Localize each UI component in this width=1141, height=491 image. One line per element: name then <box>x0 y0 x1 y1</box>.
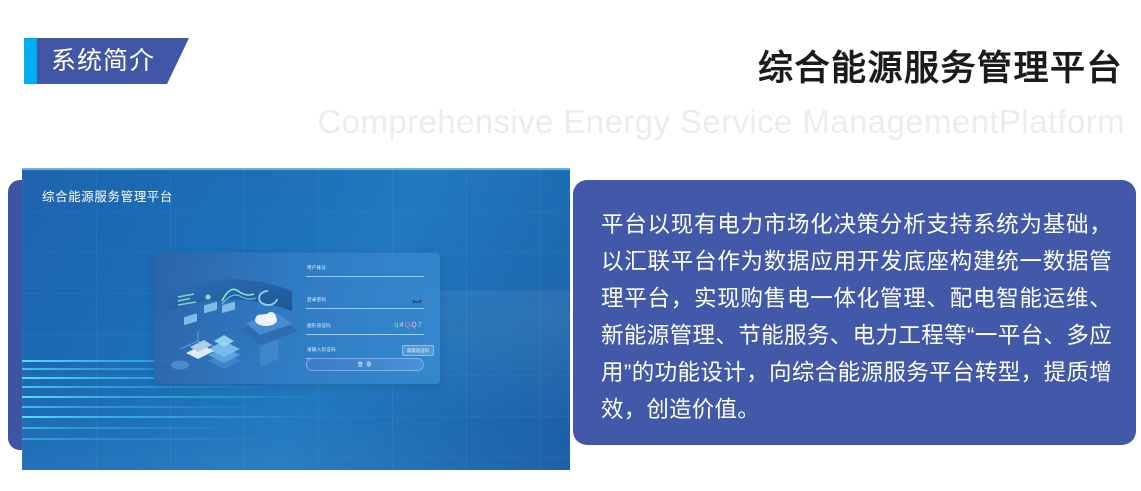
login-form: 用户账号 登录密码 图形验证码 q4QQ7 <box>306 263 432 377</box>
page-title: 综合能源服务管理平台 <box>758 40 1123 91</box>
section-badge-label: 系统简介 <box>51 49 155 74</box>
platform-screenshot: 综合能源服务管理平台 <box>22 168 570 470</box>
login-card: 用户账号 登录密码 图形验证码 q4QQ7 <box>154 253 440 384</box>
badge-accent-bar <box>24 38 37 84</box>
slide-canvas: 系统简介 综合能源服务管理平台 Comprehensive Energy Ser… <box>0 0 1141 491</box>
login-submit-button[interactable]: 登 录 <box>306 358 424 371</box>
description-panel: 平台以现有电力市场化决策分析支持系统为基础，以汇联平台作为数据应用开发底座构建统… <box>573 180 1136 445</box>
field-username-label: 用户账号 <box>307 265 326 271</box>
description-text: 平台以现有电力市场化决策分析支持系统为基础，以汇联平台作为数据应用开发底座构建统… <box>601 206 1112 428</box>
field-username-underline <box>306 276 424 277</box>
field-sms-code-label: 请输入验证码 <box>307 347 336 353</box>
field-password-label: 登录密码 <box>307 297 326 303</box>
eye-off-icon[interactable] <box>412 298 422 304</box>
get-sms-code-button[interactable]: 获取验证码 <box>402 345 434 356</box>
section-badge: 系统简介 <box>24 38 189 84</box>
field-password-underline <box>306 308 424 309</box>
badge-body: 系统简介 <box>37 38 189 84</box>
field-captcha-underline <box>306 334 424 335</box>
screenshot-app-title: 综合能源服务管理平台 <box>42 186 173 205</box>
captcha-image[interactable]: q4QQ7 <box>394 322 423 329</box>
isometric-data-center-illustration <box>160 261 300 377</box>
page-subtitle: Comprehensive Energy Service ManagementP… <box>318 103 1126 141</box>
field-captcha-label: 图形验证码 <box>307 323 331 329</box>
